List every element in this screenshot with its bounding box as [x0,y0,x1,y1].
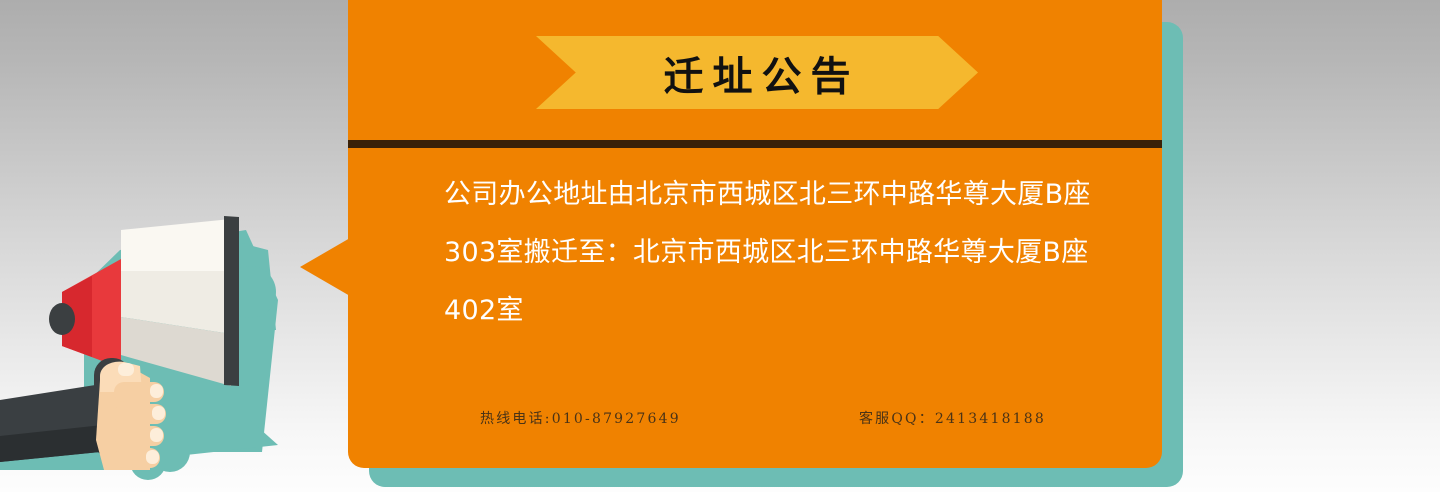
announcement-banner-image: 迁址公告 公司办公地址由北京市西城区北三环中路华尊大厦B座303室搬迁至：北京市… [0,0,1440,492]
megaphone-illustration [0,0,340,492]
hotline-text: 热线电话:010-87927649 [480,408,681,428]
announcement-body-text: 公司办公地址由北京市西城区北三环中路华尊大厦B座303室搬迁至：北京市西城区北三… [444,166,1092,340]
header-divider [348,140,1162,148]
megaphone-nub [49,303,75,335]
contact-footer: 热线电话:010-87927649 客服QQ：2413418188 [444,408,1092,428]
qq-text: 客服QQ：2413418188 [859,408,1046,428]
title-banner-label: 迁址公告 [536,36,978,109]
speech-bubble-tail [300,238,350,296]
megaphone-rim [224,216,239,386]
